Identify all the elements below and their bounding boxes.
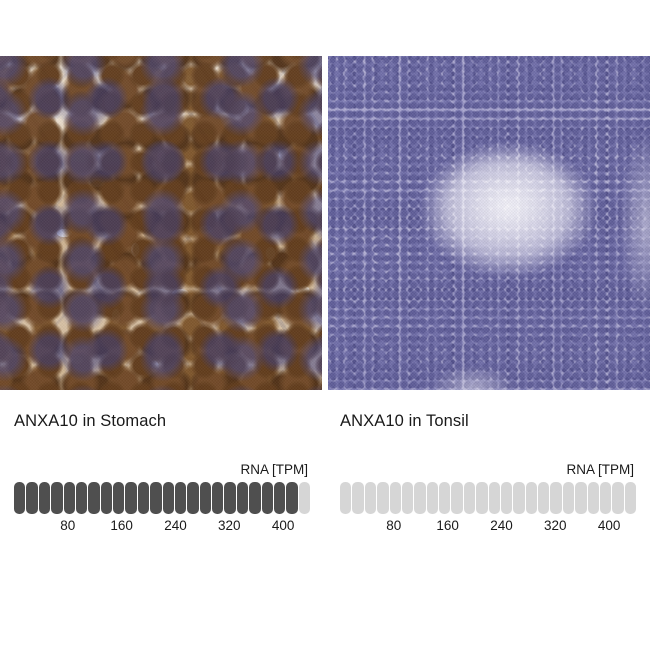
rna-bar-segment [439,482,450,514]
rna-bar-segment [26,482,37,514]
rna-bar-segment [427,482,438,514]
stomach-image-grain [0,56,322,390]
rna-bar-segment [377,482,388,514]
rna-tick-row-stomach: 80160240320400 [14,517,310,537]
rna-unit-label-stomach: RNA [TPM] [14,463,310,477]
rna-unit-label-tonsil: RNA [TPM] [340,463,636,477]
rna-bar-segment [563,482,574,514]
tonsil-image-grain [328,56,650,390]
rna-bar-segment [476,482,487,514]
rna-bar-segment [76,482,87,514]
rna-bar-segment [138,482,149,514]
rna-bar-segment [625,482,636,514]
rna-bar-segment [125,482,136,514]
rna-bar-segment [262,482,273,514]
rna-bar-segment [526,482,537,514]
rna-bar-segment [212,482,223,514]
rna-widget-tonsil: RNA [TPM] 80160240320400 [340,463,636,537]
rna-bar-segment [113,482,124,514]
rna-bar-segment [414,482,425,514]
rna-bar-segment [612,482,623,514]
rna-tick-label: 160 [436,517,459,535]
rna-tick-label: 160 [110,517,133,535]
rna-bar-segment [464,482,475,514]
rna-tick-label: 80 [386,517,401,535]
rna-bar-segment [51,482,62,514]
rna-tick-label: 240 [164,517,187,535]
rna-bar-segment [352,482,363,514]
rna-bar-segment [489,482,500,514]
rna-tick-label: 80 [60,517,75,535]
rna-bar-segment [299,482,310,514]
rna-tick-label: 400 [598,517,621,535]
rna-bar-segment [175,482,186,514]
rna-bar-segment [365,482,376,514]
rna-bar-segment [224,482,235,514]
rna-bar-track-stomach[interactable] [14,482,310,514]
immunohistochemistry-tonsil-image[interactable] [328,56,650,390]
rna-bar-track-tonsil[interactable] [340,482,636,514]
rna-tick-label: 320 [544,517,567,535]
rna-bar-segment [101,482,112,514]
rna-tick-label: 240 [490,517,513,535]
rna-bar-segment [200,482,211,514]
rna-bar-segment [550,482,561,514]
rna-bar-segment [588,482,599,514]
rna-bar-segment [451,482,462,514]
rna-bar-segment [575,482,586,514]
rna-bar-segment [513,482,524,514]
rna-bar-segment [340,482,351,514]
rna-bar-segment [286,482,297,514]
rna-tick-row-tonsil: 80160240320400 [340,517,636,537]
rna-bar-segment [14,482,25,514]
caption-tonsil: ANXA10 in Tonsil [340,412,469,431]
rna-tick-label: 320 [218,517,241,535]
rna-bar-segment [150,482,161,514]
rna-bar-segment [600,482,611,514]
rna-widget-stomach: RNA [TPM] 80160240320400 [14,463,310,537]
immunohistochemistry-stomach-image[interactable] [0,56,322,390]
rna-tick-label: 400 [272,517,295,535]
rna-bar-segment [237,482,248,514]
caption-stomach: ANXA10 in Stomach [14,412,166,431]
rna-bar-segment [274,482,285,514]
panel-tonsil: ANXA10 in Tonsil RNA [TPM] 8016024032040… [328,0,650,650]
rna-bar-segment [64,482,75,514]
panel-stomach: ANXA10 in Stomach RNA [TPM] 801602403204… [0,0,322,650]
rna-bar-segment [249,482,260,514]
rna-bar-segment [187,482,198,514]
rna-bar-segment [163,482,174,514]
rna-bar-segment [402,482,413,514]
rna-bar-segment [390,482,401,514]
rna-bar-segment [88,482,99,514]
rna-bar-segment [39,482,50,514]
rna-bar-segment [538,482,549,514]
rna-bar-segment [501,482,512,514]
